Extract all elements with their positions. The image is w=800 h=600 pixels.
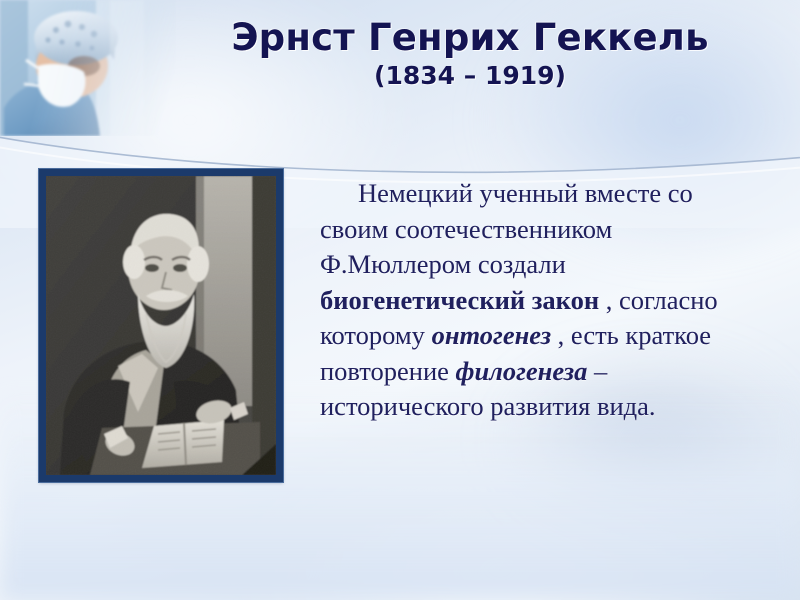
presentation-slide: Эрнст Генрих Геккель (1834 – 1919) — [0, 0, 800, 600]
term-biogenetic-law: биогенетический закон — [320, 285, 599, 315]
slide-header: Эрнст Генрих Геккель (1834 – 1919) — [150, 18, 790, 90]
page-subtitle-years: (1834 – 1919) — [150, 61, 790, 90]
portrait-frame — [39, 169, 283, 482]
term-phylogenesis: филогенеза — [456, 356, 588, 386]
page-title: Эрнст Генрих Геккель — [150, 18, 790, 58]
portrait-photo — [46, 176, 276, 475]
term-ontogenesis: онтогенез — [432, 320, 551, 350]
body-segment-0: Немецкий ученный вместе со своим соотече… — [320, 178, 693, 279]
body-paragraph: Немецкий ученный вместе со своим соотече… — [320, 176, 750, 425]
